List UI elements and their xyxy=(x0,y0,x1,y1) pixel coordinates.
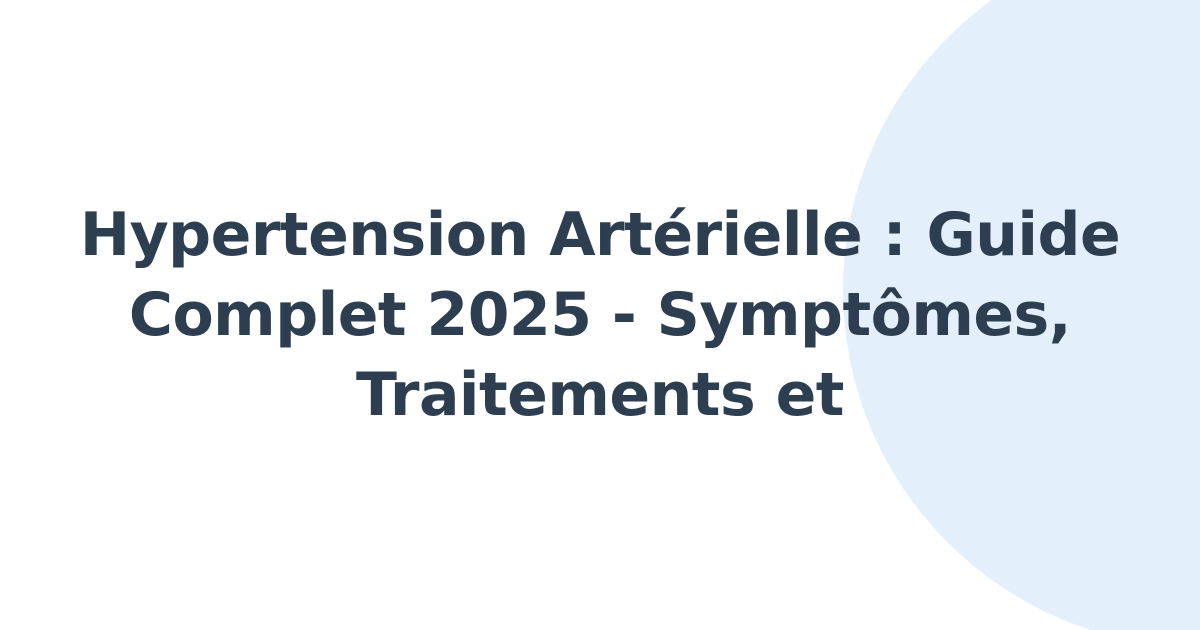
card-content: Hypertension Artérielle : Guide Complet … xyxy=(0,0,1200,630)
page-title: Hypertension Artérielle : Guide Complet … xyxy=(60,195,1140,435)
og-preview-card: Hypertension Artérielle : Guide Complet … xyxy=(0,0,1200,630)
